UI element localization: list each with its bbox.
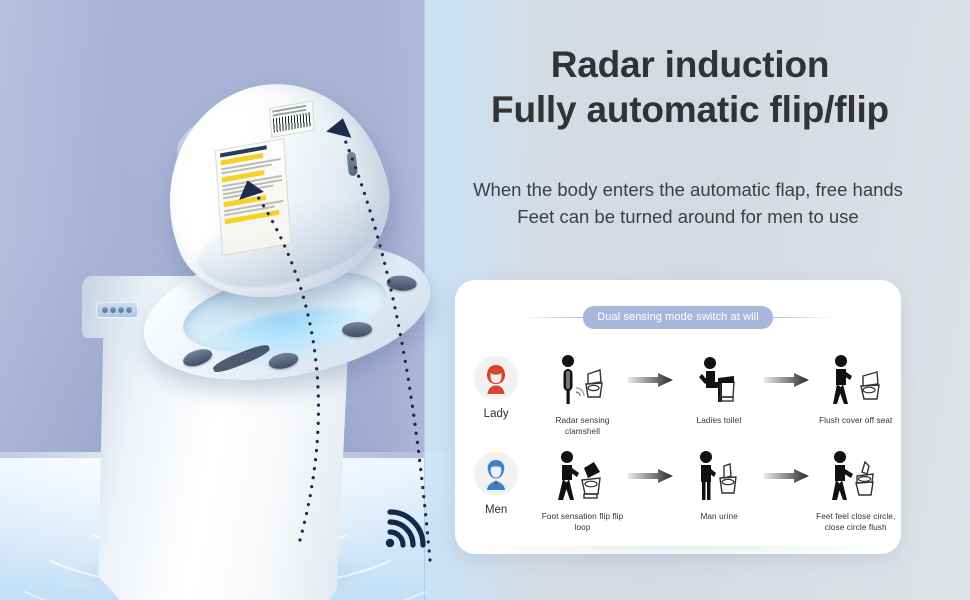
flow-arrow xyxy=(764,448,810,504)
avatar xyxy=(474,452,518,496)
avatar-label: Lady xyxy=(484,408,509,420)
status-badge: Dual sensing mode switch at will xyxy=(583,306,773,329)
arrow-right-icon xyxy=(764,468,810,484)
person-walking-away-toilet-icon xyxy=(821,352,891,408)
control-button-icon xyxy=(126,307,132,313)
flow-step-1: Radar sensing clamshell xyxy=(537,352,628,437)
arrow-right-icon xyxy=(764,372,810,388)
headline-line-1: Radar induction xyxy=(430,42,950,87)
arrow-right-icon xyxy=(628,372,674,388)
person-foot-close-flush-icon xyxy=(821,448,891,504)
avatar-cell-men: Men xyxy=(455,448,537,516)
badge-divider-left xyxy=(521,317,583,318)
flow-step-art xyxy=(548,352,618,408)
page-subtitle: When the body enters the automatic flap,… xyxy=(418,176,958,231)
headline-line-2: Fully automatic flip/flip xyxy=(430,87,950,132)
control-panel[interactable] xyxy=(96,302,138,318)
flow-step-2: Man urine xyxy=(674,448,765,522)
men-avatar-icon xyxy=(474,452,518,496)
person-sitting-toilet-icon xyxy=(684,352,754,408)
flow-arrow xyxy=(628,352,674,408)
flow-step-art xyxy=(684,352,754,408)
flow-row-lady: Lady Radar sensing c xyxy=(455,352,901,448)
subhead-line-1: When the body enters the automatic flap,… xyxy=(418,176,958,203)
dual-sensing-card: Dual sensing mode switch at will Lady xyxy=(455,280,901,554)
lady-avatar-icon xyxy=(474,356,518,400)
subhead-line-2: Feet can be turned around for men to use xyxy=(418,203,958,230)
card-badge-row: Dual sensing mode switch at will xyxy=(455,306,901,329)
avatar-label: Men xyxy=(485,504,507,516)
man-urinating-toilet-icon xyxy=(684,448,754,504)
flow-step-caption: Radar sensing clamshell xyxy=(537,415,628,437)
person-foot-sensor-lid-icon xyxy=(548,448,618,504)
warning-label-sticker xyxy=(215,138,292,256)
avatar-cell-lady: Lady xyxy=(455,352,537,420)
flow-step-art xyxy=(548,448,618,504)
control-button-icon xyxy=(110,307,116,313)
flow-step-caption: Man urine xyxy=(700,511,737,522)
flow-step-3: Flush cover off seat xyxy=(810,352,901,426)
flow-step-caption: Flush cover off seat xyxy=(819,415,892,426)
flow-step-3: Feet feel close circle, close circle flu… xyxy=(810,448,901,533)
flow-step-art xyxy=(684,448,754,504)
control-button-icon xyxy=(102,307,108,313)
flow-step-caption: Foot sensation flip flip loop xyxy=(537,511,628,533)
avatar xyxy=(474,356,518,400)
flow-step-caption: Feet feel close circle, close circle flu… xyxy=(810,511,901,533)
flow-step-1: Foot sensation flip flip loop xyxy=(537,448,628,533)
flow-arrow xyxy=(628,448,674,504)
badge-divider-right xyxy=(773,317,835,318)
flow-arrow xyxy=(764,352,810,408)
flow-step-2: Ladies toilet xyxy=(674,352,765,426)
control-button-icon xyxy=(118,307,124,313)
flow-step-art xyxy=(821,448,891,504)
radar-wave-icon xyxy=(382,505,434,557)
flow-step-caption: Ladies toilet xyxy=(697,415,742,426)
page-title: Radar induction Fully automatic flip/fli… xyxy=(430,42,950,132)
flow-step-art xyxy=(821,352,891,408)
person-standing-toilet-icon xyxy=(548,352,618,408)
arrow-right-icon xyxy=(628,468,674,484)
flow-row-men: Men Foot sensation f xyxy=(455,448,901,544)
promo-banner: Radar induction Fully automatic flip/fli… xyxy=(0,0,970,600)
